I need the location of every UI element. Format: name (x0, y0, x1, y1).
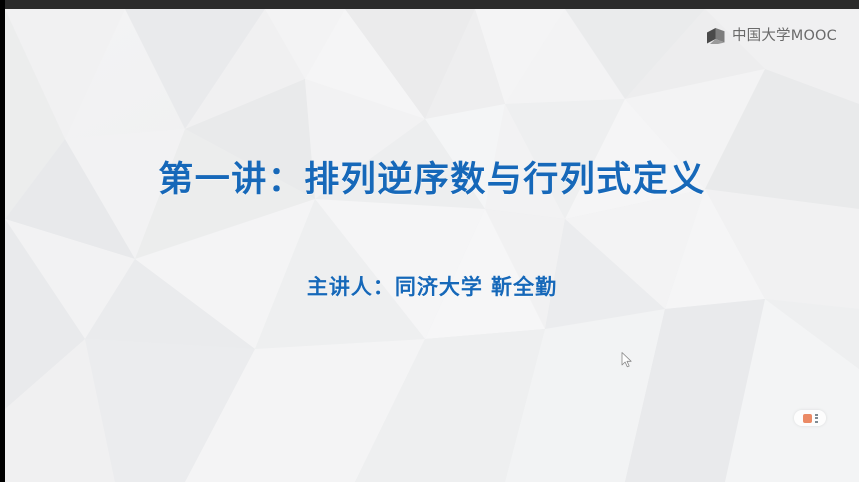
slide-canvas[interactable]: 中国大学MOOC 第一讲：排列逆序数与行列式定义 主讲人：同济大学 靳全勤 (5, 9, 859, 482)
more-vertical-icon[interactable] (815, 414, 818, 423)
app-badge-icon[interactable] (803, 414, 812, 423)
slide-subtitle: 主讲人：同济大学 靳全勤 (5, 275, 859, 299)
slide-title: 第一讲：排列逆序数与行列式定义 (5, 160, 859, 200)
player-left-edge (0, 0, 5, 482)
book-logo-icon (707, 28, 728, 44)
floating-badge[interactable] (794, 410, 826, 426)
low-poly-background (5, 9, 859, 482)
player-top-bar (0, 0, 859, 9)
mooc-logo-text: 中国大学MOOC (732, 29, 837, 44)
mooc-logo: 中国大学MOOC (707, 28, 837, 44)
video-player-screen: 中国大学MOOC 第一讲：排列逆序数与行列式定义 主讲人：同济大学 靳全勤 (0, 0, 859, 482)
